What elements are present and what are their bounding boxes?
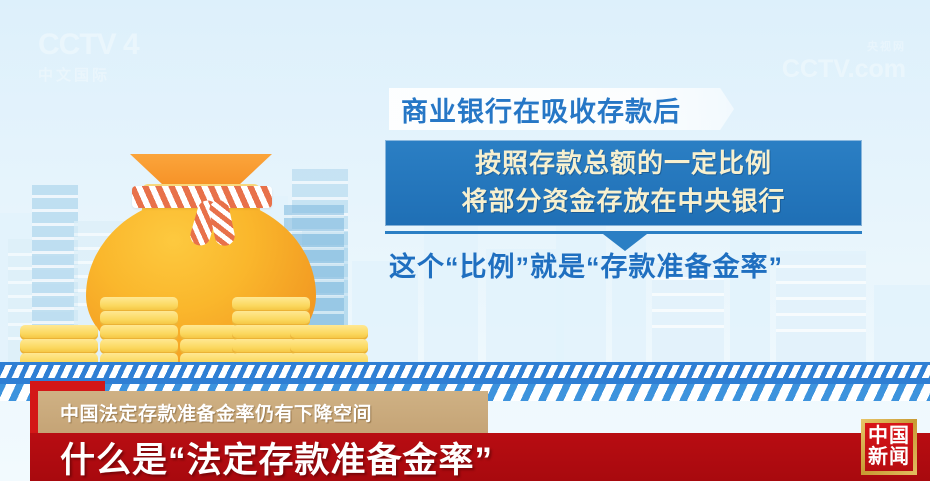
china-news-logo-inner: 中国 新闻 <box>865 423 913 471</box>
callout-box-line-1: 按照存款总额的一定比例 <box>475 145 772 183</box>
callout-line-3-text: 这个“比例”就是“存款准备金率” <box>389 245 783 284</box>
callout-line-1-text: 商业银行在吸收存款后 <box>389 90 681 129</box>
china-news-logo-line-2: 新闻 <box>868 447 910 468</box>
callout-line-3: 这个“比例”就是“存款准备金率” <box>389 243 889 285</box>
lower-third-headline-bar: 什么是“法定存款准备金率” <box>30 433 930 481</box>
lower-third-headline-text: 什么是“法定存款准备金率” <box>30 432 493 481</box>
lower-third: 中国法定存款准备金率仍有下降空间 什么是“法定存款准备金率” 中国 新闻 <box>0 381 930 481</box>
china-news-logo-line-1: 中国 <box>868 426 910 447</box>
callout-blue-box: 按照存款总额的一定比例 将部分资金存放在中央银行 <box>385 140 862 226</box>
lower-third-subtitle-text: 中国法定存款准备金率仍有下降空间 <box>38 399 372 426</box>
broadcast-screenshot: 商业银行在吸收存款后 按照存款总额的一定比例 将部分资金存放在中央银行 这个“比… <box>0 0 930 481</box>
stripe-band-top-line <box>0 381 930 384</box>
ground-stripe-band <box>0 362 930 381</box>
china-news-logo: 中国 新闻 <box>861 419 917 475</box>
coin-stacks <box>0 288 340 368</box>
lower-third-subtitle-bar: 中国法定存款准备金率仍有下降空间 <box>38 391 488 433</box>
coin-stack <box>100 298 178 368</box>
callout-line-1: 商业银行在吸收存款后 <box>389 88 734 130</box>
callout-box-line-2: 将部分资金存放在中央银行 <box>461 183 785 221</box>
building-bg <box>556 203 606 381</box>
